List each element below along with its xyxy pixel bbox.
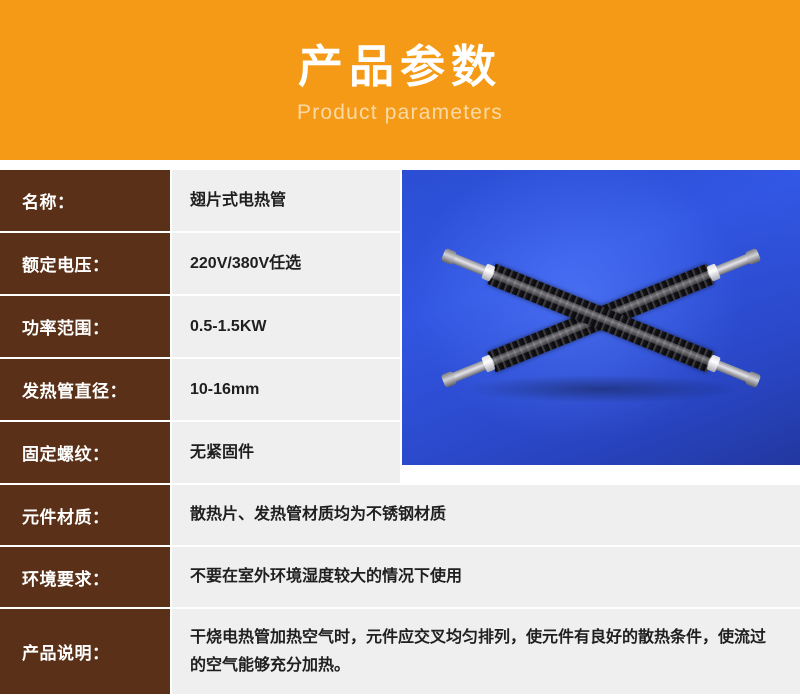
param-value: 无紧固件 xyxy=(170,422,400,485)
table-row: 元件材质： 散热片、发热管材质均为不锈钢材质 xyxy=(0,485,800,547)
page-banner: 产品参数 Product parameters xyxy=(0,0,800,160)
table-row: 产品说明： 干烧电热管加热空气时，元件应交叉均匀排列，使元件有良好的散热条件，使… xyxy=(0,609,800,694)
param-label: 功率范围： xyxy=(0,296,170,359)
param-label: 产品说明： xyxy=(0,609,170,694)
param-value: 翅片式电热管 xyxy=(170,170,400,233)
param-label: 额定电压： xyxy=(0,233,170,296)
param-value: 干烧电热管加热空气时，元件应交叉均匀排列，使元件有良好的散热条件，使流过的空气能… xyxy=(170,609,800,694)
param-label: 环境要求： xyxy=(0,547,170,609)
param-value: 220V/380V任选 xyxy=(170,233,400,296)
param-label: 发热管直径： xyxy=(0,359,170,422)
param-label: 固定螺纹： xyxy=(0,422,170,485)
param-label: 元件材质： xyxy=(0,485,170,547)
param-value: 0.5-1.5KW xyxy=(170,296,400,359)
product-photo xyxy=(400,170,800,465)
product-parameters-page: 产品参数 Product parameters 名称： 翅片式电热管 额定电压：… xyxy=(0,0,800,699)
page-title: 产品参数 xyxy=(298,35,502,93)
photo-shadow xyxy=(462,375,742,403)
table-row: 环境要求： 不要在室外环境湿度较大的情况下使用 xyxy=(0,547,800,609)
param-value: 散热片、发热管材质均为不锈钢材质 xyxy=(170,485,800,547)
page-subtitle: Product parameters xyxy=(297,101,503,125)
param-value: 不要在室外环境湿度较大的情况下使用 xyxy=(170,547,800,609)
param-label: 名称： xyxy=(0,170,170,233)
param-value: 10-16mm xyxy=(170,359,400,422)
